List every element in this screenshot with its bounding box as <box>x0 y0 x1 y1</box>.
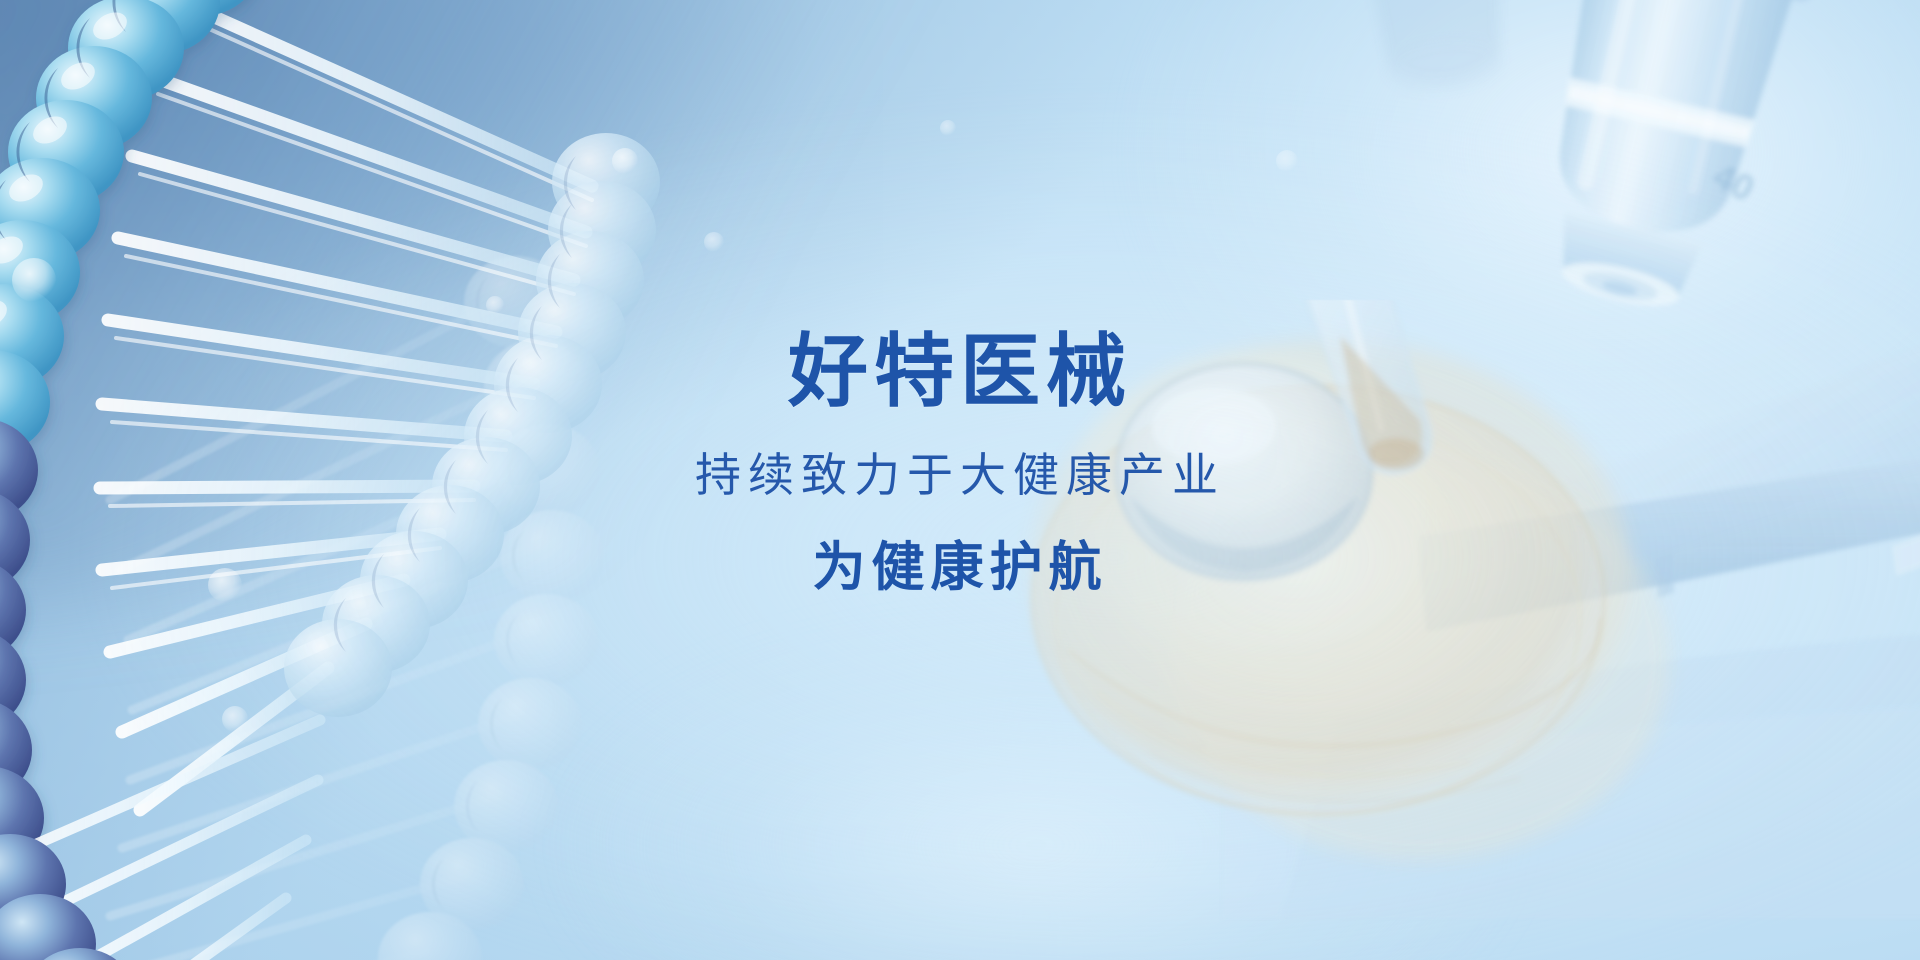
page-title: 好特医械 <box>0 330 1920 414</box>
hero-tagline: 为健康护航 <box>0 539 1920 597</box>
hero-text-block: 好特医械 持续致力于大健康产业 为健康护航 <box>0 330 1920 597</box>
background-bottom-light <box>422 557 1651 960</box>
hero-banner: 40 <box>0 0 1920 960</box>
hero-subtitle: 持续致力于大健康产业 <box>0 450 1920 501</box>
